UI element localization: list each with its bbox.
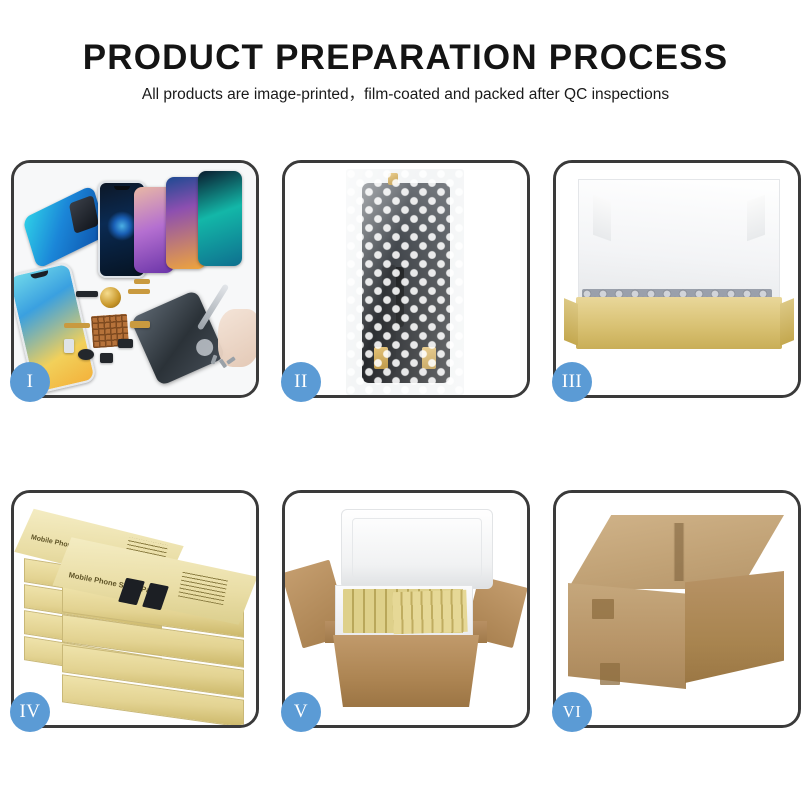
- small-ic-component: [118, 339, 133, 348]
- blue-screen-protector: [22, 185, 107, 270]
- step-badge-2: II: [281, 362, 321, 402]
- step-badge-6: VI: [552, 692, 592, 732]
- step-image-boxes-stacked: Mobile Phone Spare Parts Mobile Phone Sp…: [14, 493, 256, 725]
- page-header: PRODUCT PREPARATION PROCESS All products…: [0, 0, 811, 103]
- carton-front-face: [568, 583, 686, 689]
- gold-flex-component: [130, 321, 150, 328]
- step-panel-1[interactable]: I: [11, 160, 259, 398]
- gold-coil-component: [100, 287, 121, 308]
- step-image-bubble-wrap: [285, 163, 527, 395]
- gold-boxes-in-foam-2: [392, 590, 467, 635]
- carton-body: [323, 635, 489, 707]
- speaker-component: [78, 349, 94, 360]
- step-panel-3[interactable]: III: [553, 160, 801, 398]
- chip-component: [76, 291, 98, 297]
- process-steps-grid: I II III: [11, 160, 800, 728]
- gold-box-stack: Mobile Phone Spare Parts Mobile Phone Sp…: [18, 503, 254, 719]
- carton-tape-lower: [600, 663, 620, 685]
- camera-component: [100, 353, 113, 363]
- flex-cable-1: [64, 323, 90, 328]
- step-panel-6[interactable]: VI: [553, 490, 801, 728]
- step-panel-5[interactable]: V: [282, 490, 530, 728]
- bubble-wrap-bag: [346, 169, 464, 395]
- page-title: PRODUCT PREPARATION PROCESS: [0, 40, 811, 75]
- page-subtitle: All products are image-printed，film-coat…: [0, 87, 811, 103]
- sim-tray-component: [64, 339, 74, 353]
- step-badge-1: I: [10, 362, 50, 402]
- carton-side-face: [685, 571, 784, 683]
- step-image-parts-overview: [14, 163, 256, 395]
- gold-box-tray: [576, 297, 782, 349]
- carton-tape-upper: [592, 599, 614, 619]
- box-lid: [578, 179, 780, 305]
- flex-cable-2: [128, 289, 150, 294]
- lid-flap-right: [747, 195, 765, 242]
- lid-flap-left: [593, 195, 611, 242]
- flex-cable-3: [134, 279, 150, 284]
- teal-gradient-phone: [198, 171, 242, 266]
- bag-sheen: [346, 169, 464, 395]
- step-badge-4: IV: [10, 692, 50, 732]
- screws-group: [212, 355, 236, 373]
- step-image-inner-box: [556, 163, 798, 395]
- step-panel-4[interactable]: Mobile Phone Spare Parts Mobile Phone Sp…: [11, 490, 259, 728]
- step-badge-5: V: [281, 692, 321, 732]
- step-panel-2[interactable]: II: [282, 160, 530, 398]
- step-image-sealed-carton: [556, 493, 798, 725]
- step-badge-3: III: [552, 362, 592, 402]
- step-image-foam-carton: [285, 493, 527, 725]
- foam-box-lid: [341, 509, 493, 589]
